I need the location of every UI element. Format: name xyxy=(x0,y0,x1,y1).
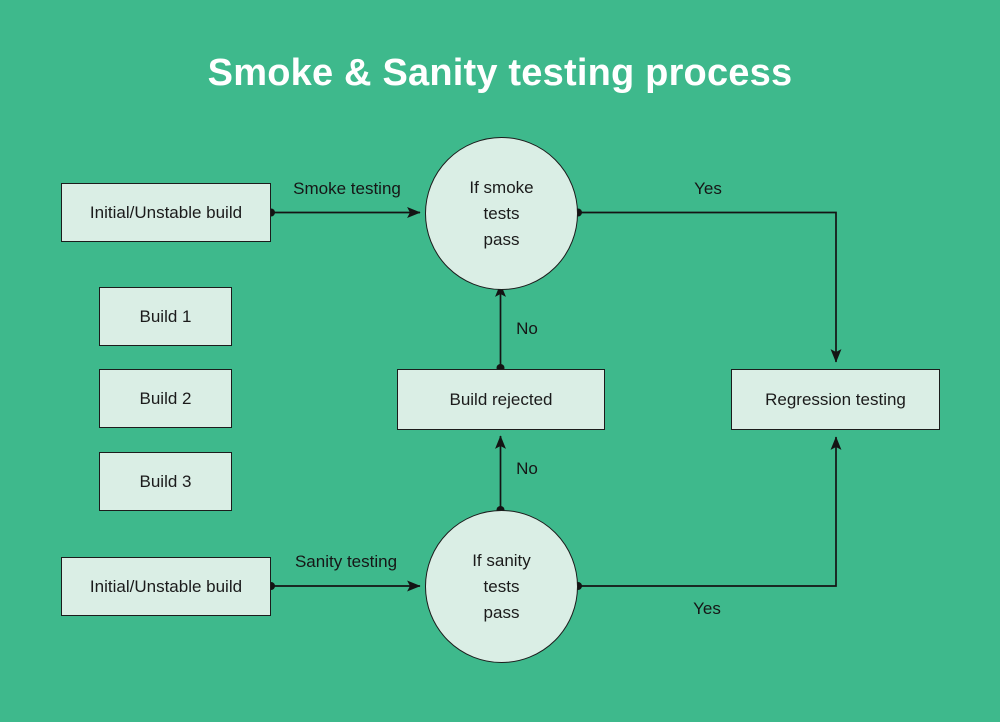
node-label: Build 1 xyxy=(140,307,192,327)
node-label: Build 2 xyxy=(140,389,192,409)
node-smoke-decision[interactable]: If smoke tests pass xyxy=(425,137,578,290)
node-label: Initial/Unstable build xyxy=(90,577,242,597)
node-label: Initial/Unstable build xyxy=(90,203,242,223)
node-label-line-2: tests xyxy=(484,574,520,600)
edge-sanity-yes-to-regression xyxy=(578,437,836,586)
node-label-line-3: pass xyxy=(484,227,520,253)
node-label-line-2: tests xyxy=(484,201,520,227)
edge-label-sanity-yes: Yes xyxy=(693,599,721,619)
edge-label-smoke-yes: Yes xyxy=(694,179,722,199)
node-regression-testing[interactable]: Regression testing xyxy=(731,369,940,430)
flowchart-canvas: Smoke & Sanity testing process Initial/U… xyxy=(0,0,1000,722)
node-build-3[interactable]: Build 3 xyxy=(99,452,232,511)
page-title: Smoke & Sanity testing process xyxy=(0,52,1000,95)
node-label-line-1: If smoke xyxy=(469,175,533,201)
node-build-rejected[interactable]: Build rejected xyxy=(397,369,605,430)
node-initial-unstable-build-top[interactable]: Initial/Unstable build xyxy=(61,183,271,242)
edge-label-sanity-testing: Sanity testing xyxy=(295,552,397,572)
node-label-line-1: If sanity xyxy=(472,548,531,574)
edge-smoke-yes-to-regression xyxy=(578,213,836,363)
node-label-line-3: pass xyxy=(484,600,520,626)
edge-label-sanity-no: No xyxy=(516,459,538,479)
node-build-2[interactable]: Build 2 xyxy=(99,369,232,428)
node-label: Build 3 xyxy=(140,472,192,492)
node-sanity-decision[interactable]: If sanity tests pass xyxy=(425,510,578,663)
node-label: Regression testing xyxy=(765,390,906,410)
node-label: Build rejected xyxy=(449,390,552,410)
edge-label-smoke-no: No xyxy=(516,319,538,339)
edge-label-smoke-testing: Smoke testing xyxy=(293,179,401,199)
node-initial-unstable-build-bottom[interactable]: Initial/Unstable build xyxy=(61,557,271,616)
node-build-1[interactable]: Build 1 xyxy=(99,287,232,346)
